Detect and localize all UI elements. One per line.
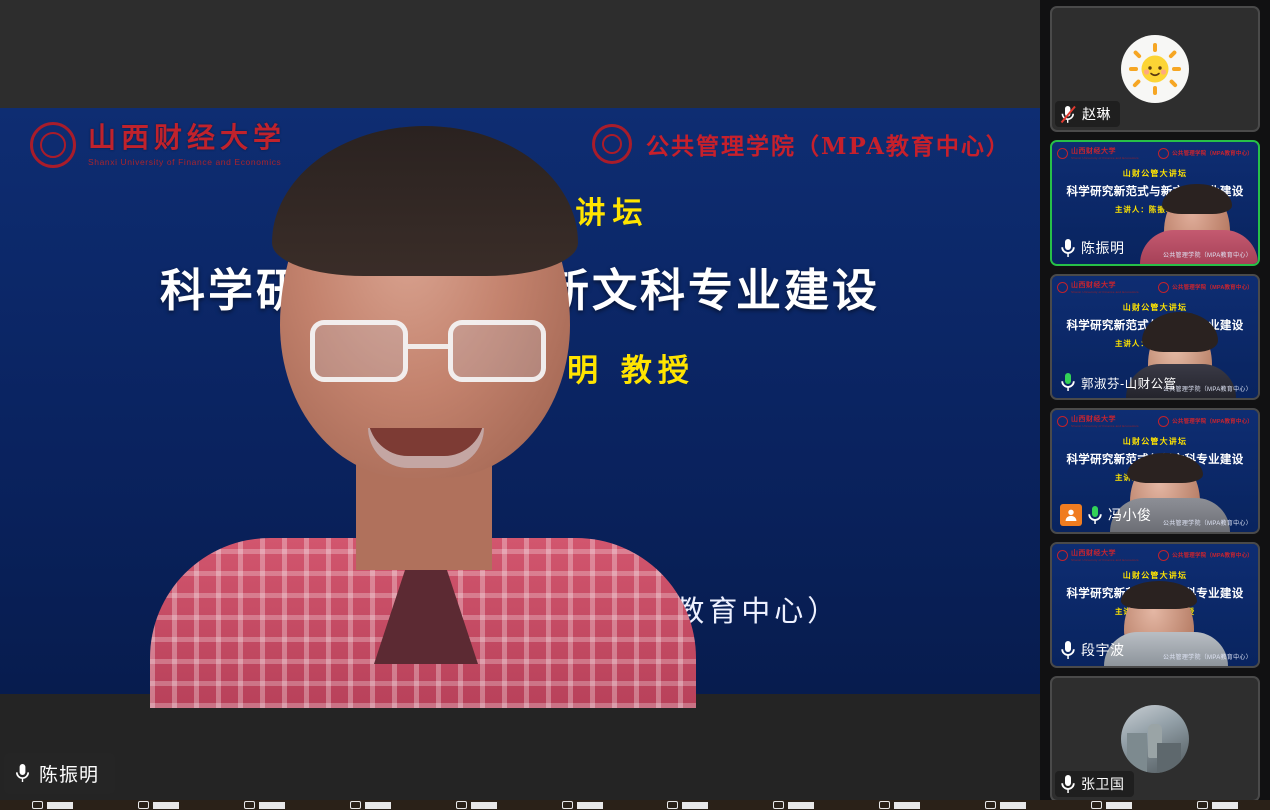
toolbar-item[interactable] bbox=[106, 800, 212, 810]
participants-filmstrip[interactable]: 赵琳 山西财经大学 Shanxi University of Finance a… bbox=[1040, 0, 1270, 810]
toolbar-item[interactable] bbox=[847, 800, 953, 810]
letterbox-bottom bbox=[0, 694, 1040, 800]
university-name-cn: 山西财经大学 bbox=[88, 124, 286, 152]
toolbar-label bbox=[259, 802, 285, 809]
participant-tile[interactable]: 赵琳 bbox=[1050, 6, 1260, 132]
toolbar-label bbox=[1106, 802, 1132, 809]
university-seal-icon bbox=[1057, 148, 1068, 159]
participant-tile[interactable]: 山西财经大学 Shanxi University of Finance and … bbox=[1050, 274, 1260, 400]
meeting-toolbar[interactable] bbox=[0, 800, 1270, 810]
participant-label: 郭淑芬-山财公管 bbox=[1055, 369, 1186, 395]
slide-speaker-line: 主讲人：陈振明 教授 bbox=[0, 345, 1040, 390]
participant-tile[interactable]: 山西财经大学 Shanxi University of Finance and … bbox=[1050, 140, 1260, 266]
university-name-en: Shanxi University of Finance and Economi… bbox=[1071, 290, 1139, 294]
toolbar-icon bbox=[138, 801, 149, 809]
participant-tile[interactable]: 山西财经大学 Shanxi University of Finance and … bbox=[1050, 408, 1260, 534]
participant-name: 陈振明 bbox=[1081, 238, 1125, 258]
college-seal-icon bbox=[1158, 148, 1169, 159]
participant-label: 段宇波 bbox=[1055, 637, 1134, 663]
participant-name: 段宇波 bbox=[1081, 640, 1125, 660]
toolbar-label bbox=[682, 802, 708, 809]
toolbar-label bbox=[788, 802, 814, 809]
participant-name: 冯小俊 bbox=[1108, 505, 1152, 525]
participant-label: 陈振明 bbox=[1055, 235, 1134, 261]
slide-host-line: 主办单位：公共管理学院（MPA教育中心） bbox=[0, 588, 1040, 630]
microphone-active-icon bbox=[1087, 505, 1103, 525]
university-name-cn: 山西财经大学 bbox=[1071, 548, 1139, 558]
college-seal-icon bbox=[1158, 550, 1169, 561]
microphone-muted-icon bbox=[1060, 105, 1077, 124]
avatar bbox=[1121, 705, 1189, 773]
toolbar-label bbox=[1000, 802, 1026, 809]
participant-tile[interactable]: 山西财经大学 Shanxi University of Finance and … bbox=[1050, 542, 1260, 668]
toolbar-icon bbox=[32, 801, 43, 809]
microphone-icon bbox=[15, 763, 30, 784]
toolbar-item[interactable] bbox=[1058, 800, 1164, 810]
participant-name: 赵琳 bbox=[1082, 104, 1111, 124]
slide-forum-title: 山财公管大讲坛 bbox=[1052, 436, 1258, 447]
toolbar-label bbox=[471, 802, 497, 809]
toolbar-label bbox=[365, 802, 391, 809]
university-name-cn: 山西财经大学 bbox=[1071, 414, 1139, 424]
participant-label: 冯小俊 bbox=[1055, 501, 1161, 529]
toolbar-item[interactable] bbox=[635, 800, 741, 810]
slide-forum-title: 山财公管大讲坛 bbox=[1052, 302, 1258, 313]
toolbar-item[interactable] bbox=[0, 800, 106, 810]
toolbar-label bbox=[577, 802, 603, 809]
letterbox-top bbox=[0, 0, 1040, 108]
toolbar-label bbox=[47, 802, 73, 809]
microphone-icon bbox=[1060, 238, 1076, 258]
university-name-en: Shanxi University of Finance and Economi… bbox=[1071, 156, 1139, 160]
toolbar-icon bbox=[1091, 801, 1102, 809]
college-seal-icon bbox=[592, 124, 632, 164]
participant-label: 张卫国 bbox=[1055, 771, 1134, 797]
university-seal-icon bbox=[1057, 550, 1068, 561]
mini-slide-header: 山西财经大学 Shanxi University of Finance and … bbox=[1057, 548, 1253, 562]
toolbar-item[interactable] bbox=[317, 800, 423, 810]
college-name: 公共管理学院（MPA教育中心） bbox=[1172, 283, 1253, 291]
active-speaker-name: 陈振明 bbox=[39, 760, 99, 787]
avatar bbox=[1121, 35, 1189, 103]
toolbar-icon bbox=[985, 801, 996, 809]
slide-host-note: 公共管理学院（MPA教育中心） bbox=[1163, 518, 1252, 527]
mini-slide-header: 山西财经大学 Shanxi University of Finance and … bbox=[1057, 414, 1253, 428]
toolbar-item[interactable] bbox=[529, 800, 635, 810]
microphone-active-icon bbox=[1060, 372, 1076, 392]
participant-name: 郭淑芬-山财公管 bbox=[1081, 373, 1177, 392]
participant-label: 赵琳 bbox=[1055, 101, 1120, 127]
slide-header: 山西财经大学 Shanxi University of Finance and … bbox=[0, 108, 1040, 174]
toolbar-label bbox=[153, 802, 179, 809]
slide-forum-title: 山财公管大讲坛 bbox=[1052, 168, 1258, 179]
university-name-en: Shanxi University of Finance and Economi… bbox=[88, 157, 286, 167]
college-seal-icon bbox=[1158, 416, 1169, 427]
toolbar-item[interactable] bbox=[1164, 800, 1270, 810]
toolbar-label bbox=[894, 802, 920, 809]
university-seal-icon bbox=[30, 122, 76, 168]
mini-slide-header: 山西财经大学 Shanxi University of Finance and … bbox=[1057, 280, 1253, 294]
toolbar-icon bbox=[773, 801, 784, 809]
college-name: 公共管理学院（MPA教育中心） bbox=[1172, 551, 1253, 559]
slide-host-note: 公共管理学院（MPA教育中心） bbox=[1163, 652, 1252, 661]
college-brand: 公共管理学院（MPA教育中心） bbox=[592, 124, 1011, 164]
toolbar-icon bbox=[244, 801, 255, 809]
college-seal-icon bbox=[1158, 282, 1169, 293]
toolbar-icon bbox=[667, 801, 678, 809]
university-name-en: Shanxi University of Finance and Economi… bbox=[1071, 424, 1139, 428]
slide-forum-title: 山财公管大讲坛 bbox=[1052, 570, 1258, 581]
toolbar-icon bbox=[562, 801, 573, 809]
mini-slide-header: 山西财经大学 Shanxi University of Finance and … bbox=[1057, 146, 1253, 160]
toolbar-label bbox=[1212, 802, 1238, 809]
university-brand: 山西财经大学 Shanxi University of Finance and … bbox=[30, 122, 286, 168]
university-seal-icon bbox=[1057, 282, 1068, 293]
video-conference-app: 山西财经大学 Shanxi University of Finance and … bbox=[0, 0, 1270, 810]
toolbar-icon bbox=[1197, 801, 1208, 809]
university-name-cn: 山西财经大学 bbox=[1071, 146, 1139, 156]
toolbar-icon bbox=[879, 801, 890, 809]
slide-body: 山财公管大讲坛 科学研究新范式与新文科专业建设 主讲人：陈振明 教授 bbox=[0, 188, 1040, 390]
college-name: 公共管理学院（MPA教育中心） bbox=[1172, 149, 1253, 157]
active-speaker-label: 陈振明 bbox=[4, 753, 115, 794]
toolbar-item[interactable] bbox=[423, 800, 529, 810]
toolbar-item[interactable] bbox=[212, 800, 318, 810]
microphone-icon bbox=[1060, 774, 1076, 794]
presentation-slide: 山西财经大学 Shanxi University of Finance and … bbox=[0, 108, 1040, 694]
university-name-cn: 山西财经大学 bbox=[1071, 280, 1139, 290]
slide-main-title: 科学研究新范式与新文科专业建设 bbox=[0, 254, 1040, 319]
toolbar-item[interactable] bbox=[741, 800, 847, 810]
college-name: 公共管理学院（MPA教育中心） bbox=[1172, 417, 1253, 425]
college-name: 公共管理学院（MPA教育中心） bbox=[646, 127, 1011, 161]
microphone-icon bbox=[1060, 640, 1076, 660]
slide-forum-title: 山财公管大讲坛 bbox=[0, 188, 1040, 232]
university-seal-icon bbox=[1057, 416, 1068, 427]
participant-tile[interactable]: 张卫国 bbox=[1050, 676, 1260, 802]
toolbar-item[interactable] bbox=[952, 800, 1058, 810]
sun-emoji-icon bbox=[1126, 40, 1184, 98]
avatar-photo-figure bbox=[1148, 724, 1162, 758]
toolbar-icon bbox=[456, 801, 467, 809]
host-badge-icon bbox=[1060, 504, 1082, 526]
main-video-stage[interactable]: 山西财经大学 Shanxi University of Finance and … bbox=[0, 0, 1040, 800]
toolbar-icon bbox=[350, 801, 361, 809]
participant-name: 张卫国 bbox=[1081, 774, 1125, 794]
university-name-en: Shanxi University of Finance and Economi… bbox=[1071, 558, 1139, 562]
slide-host-note: 公共管理学院（MPA教育中心） bbox=[1163, 250, 1252, 259]
